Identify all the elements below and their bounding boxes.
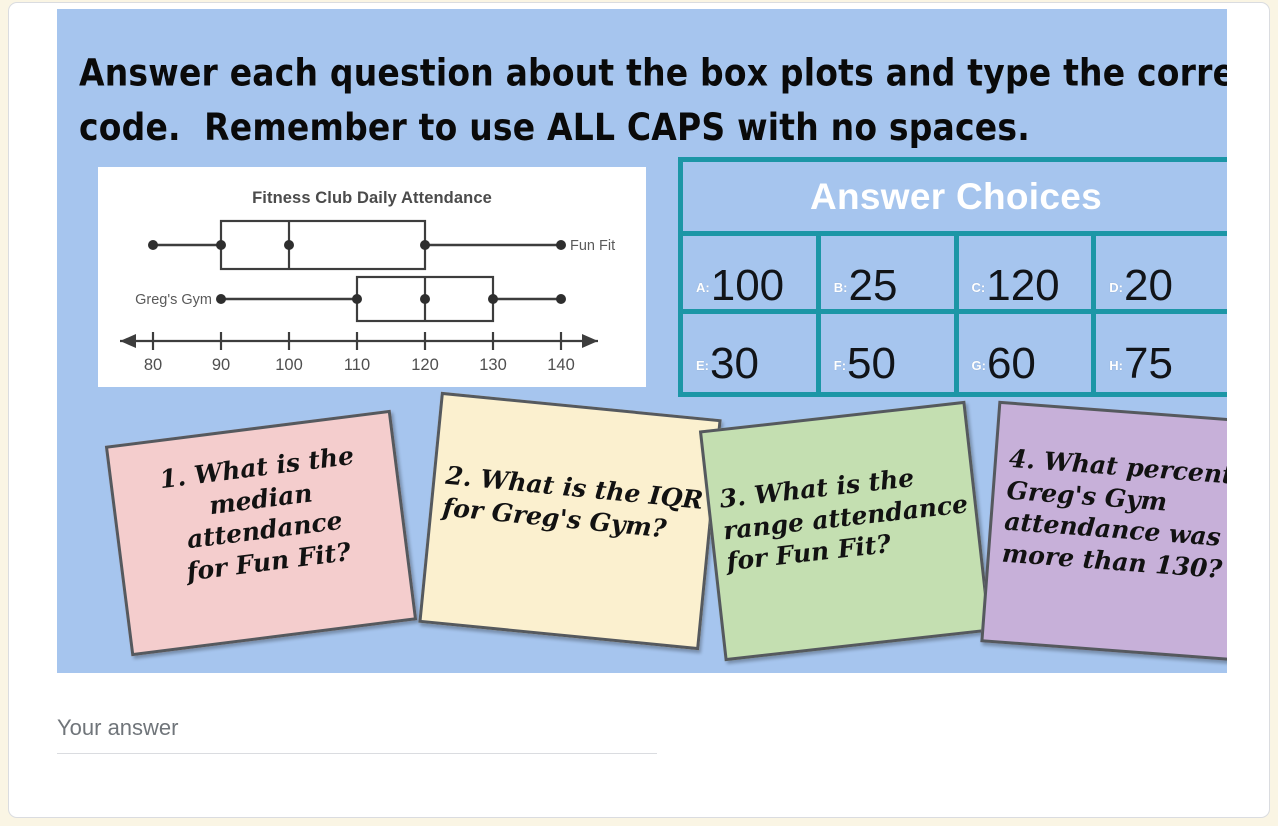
answer-choice-c[interactable]: C: 120 [959, 236, 1097, 309]
question-card-3-text: 3. What is the range attendance for Fun … [718, 455, 983, 577]
answer-choice-h-value: 75 [1124, 342, 1173, 386]
question-card-2-text: 2. What is the IQR for Greg's Gym? [441, 460, 714, 549]
svg-text:120: 120 [411, 356, 439, 374]
box-plot-figure: Fitness Club Daily Attendance [98, 167, 646, 387]
svg-text:130: 130 [479, 356, 507, 374]
instructions-text: Answer each question about the box plots… [79, 45, 1204, 155]
question-card-2: 2. What is the IQR for Greg's Gym? [418, 392, 721, 650]
boxplot-series-gregs-gym [221, 277, 561, 321]
instructions-line-1: Answer each question about the box plots… [79, 45, 1204, 100]
answer-choice-d-value: 20 [1124, 264, 1173, 308]
chart-x-tick-labels: 80 90 100 110 120 130 140 [144, 356, 575, 374]
your-answer-input[interactable] [57, 711, 657, 754]
question-card-4: 4. What percent of Greg's Gym attendance… [980, 401, 1227, 663]
answer-choice-a-value: 100 [711, 264, 784, 308]
instructions-line-2: code. Remember to use ALL CAPS with no s… [79, 100, 1204, 155]
answer-choice-b-value: 25 [848, 264, 897, 308]
answer-choice-d-letter: D: [1109, 280, 1123, 295]
answer-choices-row-1: A: 100 B: 25 C: 120 [683, 236, 1227, 314]
series-label-gregs-gym: Greg's Gym [135, 292, 212, 308]
answer-choices-table: Answer Choices A: 100 B: 25 [678, 157, 1227, 397]
answer-choice-c-letter: C: [972, 280, 986, 295]
question-card-1: 1. What is the median attendance for Fun… [105, 410, 417, 656]
answer-choice-f-value: 50 [847, 342, 896, 386]
question-card-1-text: 1. What is the median attendance for Fun… [127, 436, 399, 593]
answer-choice-h-letter: H: [1109, 358, 1123, 373]
svg-text:140: 140 [547, 356, 575, 374]
chart-x-axis [120, 332, 598, 350]
answer-choice-g[interactable]: G: 60 [959, 314, 1097, 392]
svg-text:100: 100 [275, 356, 303, 374]
answer-field-wrapper [57, 711, 657, 754]
boxplot-series-fun-fit [153, 221, 561, 269]
answer-choice-a[interactable]: A: 100 [683, 236, 821, 309]
answer-choice-a-letter: A: [696, 280, 710, 295]
answer-choices-title: Answer Choices [683, 162, 1227, 236]
series-label-fun-fit: Fun Fit [570, 238, 615, 254]
box-plot-svg: Fun Fit [98, 167, 646, 387]
answer-choice-g-letter: G: [972, 358, 986, 373]
question-card-4-text: 4. What percent of Greg's Gym attendance… [1001, 443, 1227, 589]
answer-choice-h[interactable]: H: 75 [1096, 314, 1227, 392]
answer-choice-g-value: 60 [987, 342, 1036, 386]
answer-choice-c-value: 120 [986, 264, 1059, 308]
answer-choice-d[interactable]: D: 20 [1096, 236, 1227, 309]
answer-choice-f[interactable]: F: 50 [821, 314, 959, 392]
answer-choice-b[interactable]: B: 25 [821, 236, 959, 309]
embedded-slide-image: Answer each question about the box plots… [57, 9, 1227, 673]
answer-choice-f-letter: F: [834, 358, 846, 373]
answer-choice-e[interactable]: E: 30 [683, 314, 821, 392]
svg-text:80: 80 [144, 356, 162, 374]
page-root: Answer each question about the box plots… [0, 0, 1278, 826]
svg-text:110: 110 [344, 356, 370, 374]
question-card-3: 3. What is the range attendance for Fun … [699, 401, 991, 661]
answer-choice-e-letter: E: [696, 358, 709, 373]
answer-choice-e-value: 30 [710, 342, 759, 386]
answer-choices-row-2: E: 30 F: 50 G: 60 [683, 314, 1227, 392]
form-question-card: Answer each question about the box plots… [8, 2, 1270, 818]
svg-text:90: 90 [212, 356, 230, 374]
answer-choice-b-letter: B: [834, 280, 848, 295]
